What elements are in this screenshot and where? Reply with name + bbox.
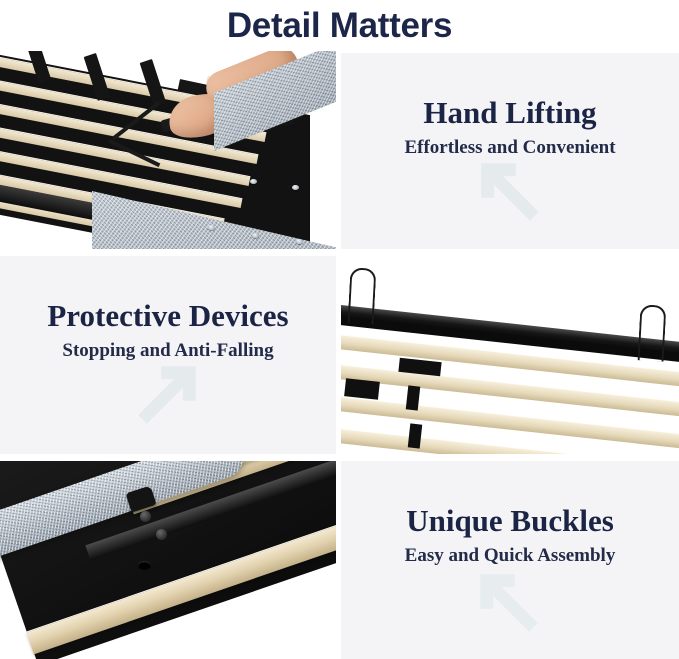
hand-lifting-illustration	[0, 51, 336, 249]
text-block-protective-devices: Protective Devices Stopping and Anti-Fal…	[0, 256, 336, 454]
tuft-button	[296, 239, 303, 244]
text-block-unique-buckles: Unique Buckles Easy and Quick Assembly	[341, 461, 679, 659]
photo-unique-buckles	[0, 461, 336, 659]
photo-hand-lifting	[0, 51, 336, 249]
feature-heading: Hand Lifting	[423, 97, 596, 130]
page-title-bar: Detail Matters	[0, 0, 679, 51]
wire-stopper	[348, 267, 377, 324]
wire-stopper	[638, 304, 667, 361]
buckle-screw	[156, 529, 167, 540]
tuft-button	[292, 185, 299, 190]
feature-subtitle: Easy and Quick Assembly	[405, 546, 616, 567]
buckle-screw	[140, 511, 151, 522]
infographic-page: Detail Matters	[0, 0, 679, 659]
photo-protective-devices	[341, 256, 679, 454]
feature-heading: Protective Devices	[47, 300, 288, 333]
text-panel-hand-lifting: Hand Lifting Effortless and Convenient	[341, 53, 679, 249]
feature-subtitle: Effortless and Convenient	[404, 138, 615, 159]
text-panel-protective-devices: Protective Devices Stopping and Anti-Fal…	[0, 256, 336, 454]
mounting-hole	[138, 561, 151, 570]
tuft-button	[208, 225, 215, 230]
feature-heading: Unique Buckles	[406, 505, 614, 538]
tuft-button	[250, 179, 257, 184]
page-title: Detail Matters	[227, 8, 452, 43]
slat-holder	[408, 423, 423, 448]
slat-holder	[344, 378, 380, 400]
feature-subtitle: Stopping and Anti-Falling	[62, 341, 273, 362]
text-block-hand-lifting: Hand Lifting Effortless and Convenient	[341, 53, 679, 249]
slat-holder	[406, 385, 421, 410]
tuft-button	[252, 233, 259, 238]
unique-buckles-illustration	[0, 461, 336, 659]
text-panel-unique-buckles: Unique Buckles Easy and Quick Assembly	[341, 461, 679, 659]
protective-devices-illustration	[341, 256, 679, 454]
